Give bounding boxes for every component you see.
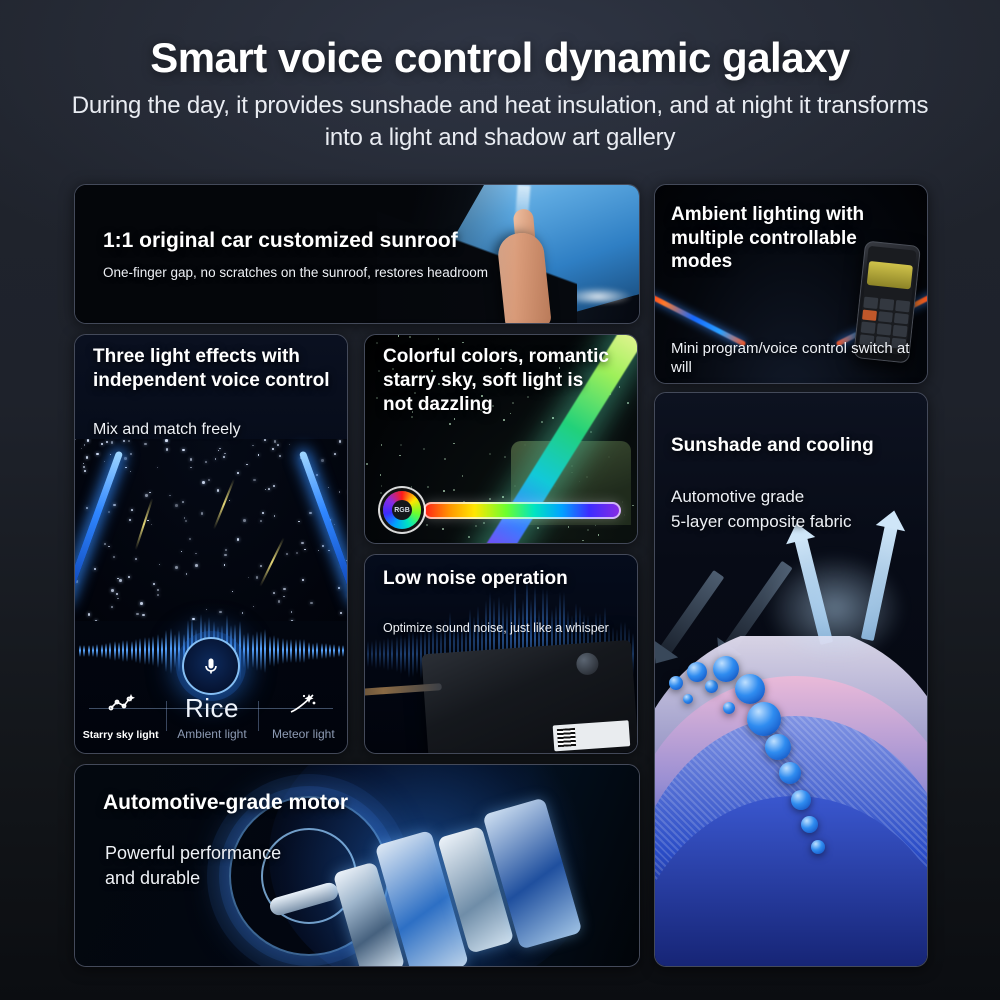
star-dot (587, 529, 589, 531)
rgb-wheel-label: RGB (392, 500, 412, 520)
waveform-bar (139, 638, 141, 664)
mode-starry-sky[interactable]: Starry sky light (75, 691, 166, 749)
waveform-bar (404, 636, 406, 673)
waveform-bar (277, 637, 279, 664)
waveform-bar (96, 644, 98, 658)
star-dot (541, 421, 543, 423)
waveform-bar (295, 639, 297, 664)
card-ambient-subtitle: Mini program/voice control switch at wil… (671, 340, 927, 378)
waveform-bar (371, 641, 373, 668)
waveform-bar (256, 631, 258, 671)
waveform-bar (170, 628, 172, 674)
card-motor-subtitle: Powerful performance and durable (105, 841, 281, 891)
waveform-bar (391, 638, 393, 670)
card-low-noise-subtitle: Optimize sound noise, just like a whispe… (383, 621, 609, 635)
star-dot (503, 419, 505, 421)
waveform-bar (342, 645, 344, 657)
keypad-key (894, 312, 909, 324)
star-dot (483, 522, 485, 524)
light-mode-legend: Starry sky light Rice Ambient light Mete… (75, 681, 348, 749)
waveform-bar (131, 641, 133, 661)
waveform-bar (333, 644, 335, 657)
motor-label (553, 720, 631, 751)
waveform-bar (105, 643, 107, 660)
waveform-bar (303, 639, 305, 663)
mode-meteor-light-label: Meteor light (272, 727, 335, 741)
waveform-bar (321, 643, 323, 660)
meteor-light-icon (258, 691, 348, 725)
waveform-bar (161, 637, 163, 664)
waveform-bar (273, 635, 275, 667)
waveform-bar (290, 639, 292, 664)
sunshade-illustration (655, 393, 927, 966)
meteor-streak (259, 537, 284, 586)
waveform-bar (338, 645, 340, 658)
card-three-effects-title: Three light effects with independent voi… (93, 345, 333, 392)
qr-code-icon (557, 728, 576, 747)
star-dot (552, 417, 554, 419)
waveform-bar (387, 637, 389, 670)
star-dot (400, 444, 402, 446)
page-title: Smart voice control dynamic galaxy (0, 36, 1000, 80)
mode-ambient-light[interactable]: Rice Ambient light (166, 691, 257, 749)
cooling-bead (713, 656, 739, 682)
waveform-bar (118, 642, 120, 661)
waveform-bar (83, 645, 85, 657)
star-dot (426, 524, 428, 526)
star-dot (444, 458, 446, 460)
waveform-bar (367, 641, 369, 667)
star-dot (443, 490, 445, 492)
waveform-bar (144, 637, 146, 665)
rgb-color-wheel-icon[interactable]: RGB (383, 491, 421, 529)
sunroof-illustration (75, 185, 639, 323)
starry-sky-icon (75, 691, 166, 725)
star-dot (365, 335, 367, 337)
waveform-bar (79, 645, 81, 657)
cooling-bead (735, 674, 765, 704)
keypad-key (879, 298, 894, 310)
waveform-bar (379, 640, 381, 669)
waveform-bar (157, 634, 159, 669)
keypad-key-active (862, 309, 877, 321)
star-dot (370, 542, 372, 543)
waveform-bar (260, 631, 262, 670)
star-dot (449, 423, 451, 425)
card-ambient-title: Ambient lighting with multiple controlla… (671, 203, 906, 274)
star-dot (409, 336, 411, 338)
card-sunroof-subtitle: One-finger gap, no scratches on the sunr… (103, 265, 488, 280)
card-automotive-motor[interactable]: Automotive-grade motor Powerful performa… (74, 764, 640, 967)
star-dot (489, 498, 491, 500)
keypad-key (878, 311, 893, 323)
keypad-key (877, 323, 892, 335)
waveform-bar (101, 644, 103, 659)
waveform-bar (148, 637, 150, 665)
star-dot (376, 342, 378, 344)
waveform-bar (329, 644, 331, 658)
cooling-bead (801, 816, 818, 833)
card-three-light-effects[interactable]: Three light effects with independent voi… (74, 334, 348, 754)
star-dot (427, 486, 429, 488)
cooling-bead (791, 790, 811, 810)
waveform-bar (396, 636, 398, 672)
waveform-bar (88, 645, 90, 658)
ambient-light-icon: Rice (166, 691, 257, 725)
waveform-bar (282, 638, 284, 663)
star-dot (502, 496, 504, 498)
cooling-bead (779, 762, 801, 784)
star-dot (366, 463, 368, 465)
waveform-bar (383, 639, 385, 669)
waveform-bar (416, 634, 418, 675)
waveform-bar (316, 642, 318, 661)
cooling-bead (705, 680, 718, 693)
meteor-streak (213, 479, 235, 530)
card-colorful-title: Colorful colors, romantic starry sky, so… (383, 345, 615, 417)
card-low-noise-title: Low noise operation (383, 567, 568, 592)
waveform-bar (299, 639, 301, 663)
cooling-bead (669, 676, 683, 690)
waveform-bar (135, 639, 137, 663)
waveform-bar (122, 640, 124, 663)
star-dot (627, 402, 629, 404)
waveform-bar (174, 634, 176, 668)
star-dot (442, 528, 444, 530)
waveform-bar (308, 642, 310, 660)
waveform-bar (247, 632, 249, 669)
mode-ambient-light-label: Ambient light (177, 727, 246, 741)
waveform-bar (412, 631, 414, 677)
header: Smart voice control dynamic galaxy Durin… (0, 36, 1000, 153)
waveform-bar (252, 634, 254, 667)
card-sunroof[interactable]: 1:1 original car customized sunroof One-… (74, 184, 640, 324)
waveform-bar (408, 630, 410, 678)
card-sunshade-title: Sunshade and cooling (671, 435, 874, 457)
waveform-bar (325, 643, 327, 659)
star-dot (489, 453, 491, 455)
star-dot (468, 536, 470, 538)
waveform-bar (286, 639, 288, 663)
card-sunshade-subtitle: Automotive grade 5-layer composite fabri… (671, 485, 851, 534)
waveform-bar (165, 630, 167, 672)
card-ambient-lighting[interactable]: Ambient lighting with multiple controlla… (654, 184, 928, 384)
card-low-noise[interactable]: Low noise operation Optimize sound noise… (364, 554, 638, 754)
waveform-bar (264, 629, 266, 673)
cooling-bead (811, 840, 825, 854)
waveform-bar (92, 645, 94, 658)
star-dot (475, 525, 477, 527)
waveform-bar (126, 640, 128, 663)
cooling-bead (723, 702, 735, 714)
motor-unit-photo (421, 640, 637, 753)
waveform-bar (109, 642, 111, 660)
star-dot (423, 448, 425, 450)
cooling-bead (683, 694, 693, 704)
vignette-overlay (75, 185, 639, 323)
cooling-bead (687, 662, 707, 682)
motor-cap (576, 652, 599, 675)
rgb-color-slider[interactable] (423, 502, 621, 519)
card-sunroof-title: 1:1 original car customized sunroof (103, 229, 458, 253)
infographic-root: Smart voice control dynamic galaxy Durin… (0, 0, 1000, 1000)
keypad-key (895, 300, 910, 312)
waveform-bar (114, 641, 116, 661)
keypad-key (863, 297, 878, 309)
mode-meteor-light[interactable]: Meteor light (258, 691, 348, 749)
keypad-key (861, 321, 876, 333)
fabric-highlight-glow (765, 553, 905, 663)
waveform-bar (400, 634, 402, 675)
star-dot (376, 397, 378, 399)
waveform-bar (243, 634, 245, 668)
waveform-bar (269, 636, 271, 666)
cooling-bead (765, 734, 791, 760)
card-colorful-colors[interactable]: RGB Colorful colors, romantic starry sky… (364, 334, 638, 544)
waveform-bar (375, 639, 377, 668)
keypad-key (893, 325, 908, 337)
page-subtitle: During the day, it provides sunshade and… (0, 90, 1000, 153)
card-three-effects-subtitle: Mix and match freely (93, 421, 241, 439)
star-dot (378, 370, 380, 372)
waveform-bar (152, 636, 154, 665)
cooling-beads (661, 650, 881, 900)
waveform-bar (312, 643, 314, 660)
mode-starry-sky-label: Starry sky light (83, 729, 159, 741)
waveform-bar (178, 630, 180, 672)
star-dot (537, 527, 539, 529)
cooling-bead (747, 702, 781, 736)
card-motor-title: Automotive-grade motor (103, 791, 348, 815)
card-sunshade-cooling[interactable]: Sunshade and cooling Automotive grade 5-… (654, 392, 928, 967)
